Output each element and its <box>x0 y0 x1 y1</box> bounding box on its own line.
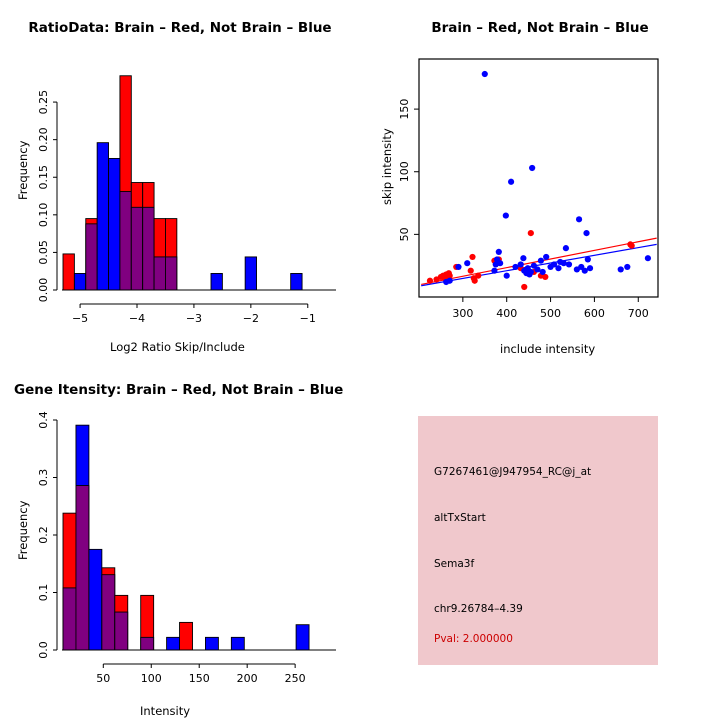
scatter-point <box>566 261 572 267</box>
y-tick-label: 0.20 <box>37 127 50 152</box>
scatter-point <box>583 230 589 236</box>
info-panel-background <box>418 416 658 665</box>
histogram-bar <box>97 143 108 290</box>
figure-canvas: RatioData: Brain – Red, Not Brain – Blue… <box>0 0 720 720</box>
x-tick-label: 700 <box>628 307 649 320</box>
scatter-point <box>645 255 651 261</box>
x-tick-label: 200 <box>237 672 258 685</box>
histogram-bar-overlap <box>141 637 154 650</box>
histogram-bar-overlap <box>63 588 76 650</box>
histogram-bar-overlap <box>143 207 154 290</box>
histogram-bar <box>109 158 120 290</box>
x-tick-label: 250 <box>285 672 306 685</box>
y-tick-label: 0.0 <box>37 641 50 659</box>
gene-hist-xlabel: Intensity <box>140 704 190 718</box>
y-tick-label: 0.05 <box>37 240 50 265</box>
y-tick-label: 0.4 <box>37 411 50 429</box>
histogram-bar-overlap <box>102 575 115 650</box>
x-tick-label: −3 <box>186 312 202 325</box>
scatter-point <box>529 165 535 171</box>
scatter-plot: 50100150300400500600700 <box>360 0 720 335</box>
y-tick-label: 150 <box>398 99 411 120</box>
x-tick-label: 150 <box>189 672 210 685</box>
scatter-point <box>624 264 630 270</box>
scatter-point <box>455 264 461 270</box>
histogram-bar <box>296 625 309 650</box>
x-tick-label: −2 <box>243 312 259 325</box>
scatter-point <box>618 266 624 272</box>
scatter-point <box>576 216 582 222</box>
y-tick-label: 100 <box>398 161 411 182</box>
y-tick-label: 0.2 <box>37 526 50 544</box>
scatter-point <box>538 258 544 264</box>
histogram-bar <box>74 273 85 290</box>
scatter-point <box>518 261 524 267</box>
y-tick-label: 0.00 <box>37 278 50 303</box>
histogram-bar <box>167 637 180 650</box>
info-gene-name: Sema3f <box>434 558 474 570</box>
ratio-hist-plot: 0.000.050.100.150.200.25−5−4−3−2−1 <box>0 0 360 330</box>
gene-hist-plot: 0.00.10.20.30.450100150200250 <box>0 360 360 695</box>
scatter-point <box>464 260 470 266</box>
scatter-point <box>528 230 534 236</box>
x-tick-label: 500 <box>540 307 561 320</box>
scatter-point <box>582 268 588 274</box>
scatter-point <box>555 265 561 271</box>
x-tick-label: 600 <box>584 307 605 320</box>
histogram-bar-overlap <box>115 612 128 650</box>
histogram-bar-overlap <box>76 486 89 650</box>
y-tick-label: 0.1 <box>37 584 50 602</box>
scatter-point <box>482 71 488 77</box>
info-locus: chr9.26784–4.39 <box>434 603 523 615</box>
info-pvalue: Pval: 2.000000 <box>434 633 513 645</box>
y-tick-label: 0.15 <box>37 165 50 190</box>
scatter-point <box>491 268 497 274</box>
x-tick-label: −1 <box>300 312 316 325</box>
scatter-point <box>585 256 591 262</box>
panel-ratio-histogram: RatioData: Brain – Red, Not Brain – Blue… <box>0 0 360 360</box>
scatter-point <box>496 249 502 255</box>
scatter-point <box>520 255 526 261</box>
scatter-point <box>534 266 540 272</box>
scatter-point <box>468 268 474 274</box>
scatter-point <box>497 260 503 266</box>
scatter-xlabel: include intensity <box>500 342 595 356</box>
scatter-point <box>512 264 518 270</box>
y-tick-label: 50 <box>398 227 411 241</box>
scatter-point <box>563 245 569 251</box>
y-tick-label: 0.25 <box>37 90 50 115</box>
scatter-point <box>503 212 509 218</box>
scatter-point <box>508 179 514 185</box>
x-tick-label: −5 <box>72 312 88 325</box>
histogram-bar-overlap <box>154 257 165 290</box>
scatter-point <box>629 243 635 249</box>
scatter-point <box>540 269 546 275</box>
x-tick-label: 50 <box>96 672 110 685</box>
scatter-point <box>504 273 510 279</box>
scatter-point <box>472 278 478 284</box>
scatter-point <box>427 278 433 284</box>
histogram-bar-overlap <box>120 192 131 290</box>
scatter-point <box>447 278 453 284</box>
histogram-bar-overlap <box>86 224 97 290</box>
histogram-bar <box>291 273 302 290</box>
histogram-bar <box>245 257 256 290</box>
scatter-point <box>561 260 567 266</box>
histogram-bar <box>63 254 74 290</box>
x-tick-label: 100 <box>141 672 162 685</box>
ratio-hist-xlabel: Log2 Ratio Skip/Include <box>110 340 245 354</box>
histogram-bar <box>205 637 218 650</box>
y-tick-label: 0.3 <box>37 469 50 487</box>
histogram-bar-overlap <box>131 207 142 290</box>
histogram-bar <box>231 637 244 650</box>
histogram-bar-overlap <box>165 257 176 290</box>
x-tick-label: 400 <box>496 307 517 320</box>
panel-gene-histogram: Gene Itensity: Brain – Red, Not Brain – … <box>0 360 360 720</box>
histogram-bar <box>180 622 193 650</box>
scatter-point <box>528 269 534 275</box>
histogram-bar <box>89 549 102 650</box>
scatter-point <box>543 254 549 260</box>
scatter-point <box>587 265 593 271</box>
histogram-bar <box>211 273 222 290</box>
scatter-point <box>521 284 527 290</box>
scatter-point <box>469 254 475 260</box>
info-event-type: altTxStart <box>434 512 486 524</box>
panel-info: G7267461@J947954_RC@j_at altTxStart Sema… <box>360 360 720 720</box>
x-tick-label: −4 <box>129 312 145 325</box>
x-tick-label: 300 <box>452 307 473 320</box>
info-probe-id: G7267461@J947954_RC@j_at <box>434 466 591 478</box>
y-tick-label: 0.10 <box>37 203 50 228</box>
scatter-point <box>475 273 481 279</box>
panel-scatter: Brain – Red, Not Brain – Blue skip inten… <box>360 0 720 360</box>
